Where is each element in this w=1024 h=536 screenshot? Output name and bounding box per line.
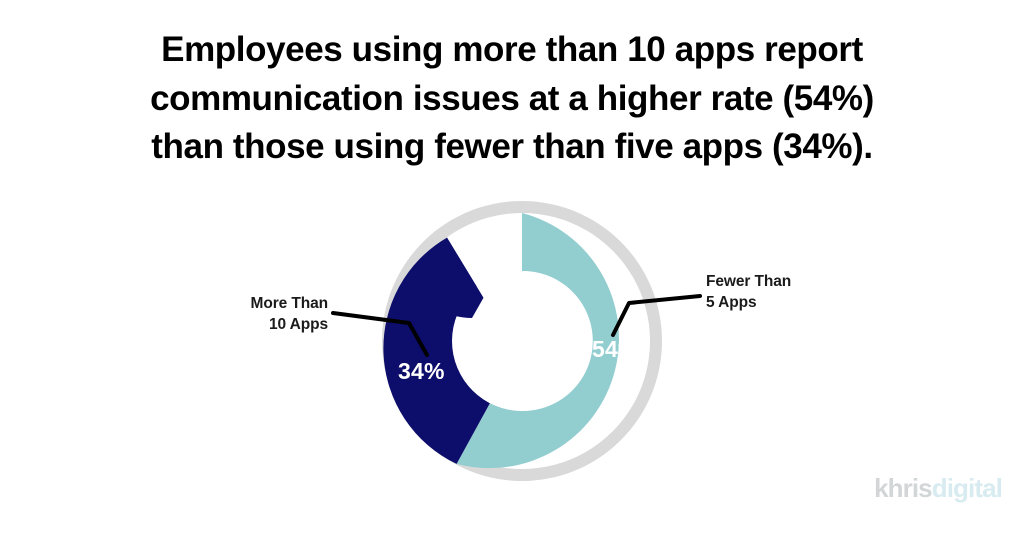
callout-right-line-2: 5 Apps: [706, 293, 916, 314]
callout-left-line-2: 10 Apps: [128, 315, 328, 336]
infographic-canvas: Employees using more than 10 apps report…: [0, 0, 1024, 536]
donut-chart: More Than 10 Apps Fewer Than 5 Apps 34% …: [0, 0, 1024, 536]
value-label-fewer-than-5-apps: 54%: [592, 336, 639, 363]
callout-label-fewer-than-5-apps: Fewer Than 5 Apps: [706, 272, 916, 314]
callout-label-more-than-10-apps: More Than 10 Apps: [128, 294, 328, 336]
brand-logo: khrisdigital: [874, 475, 1002, 501]
callout-left-line-1: More Than: [128, 294, 328, 315]
logo-text-digital: digital: [932, 473, 1002, 503]
donut-chart-svg: [0, 0, 1024, 536]
value-label-more-than-10-apps: 34%: [398, 358, 445, 385]
logo-text-khris: khris: [874, 473, 932, 503]
callout-right-line-1: Fewer Than: [706, 272, 916, 293]
